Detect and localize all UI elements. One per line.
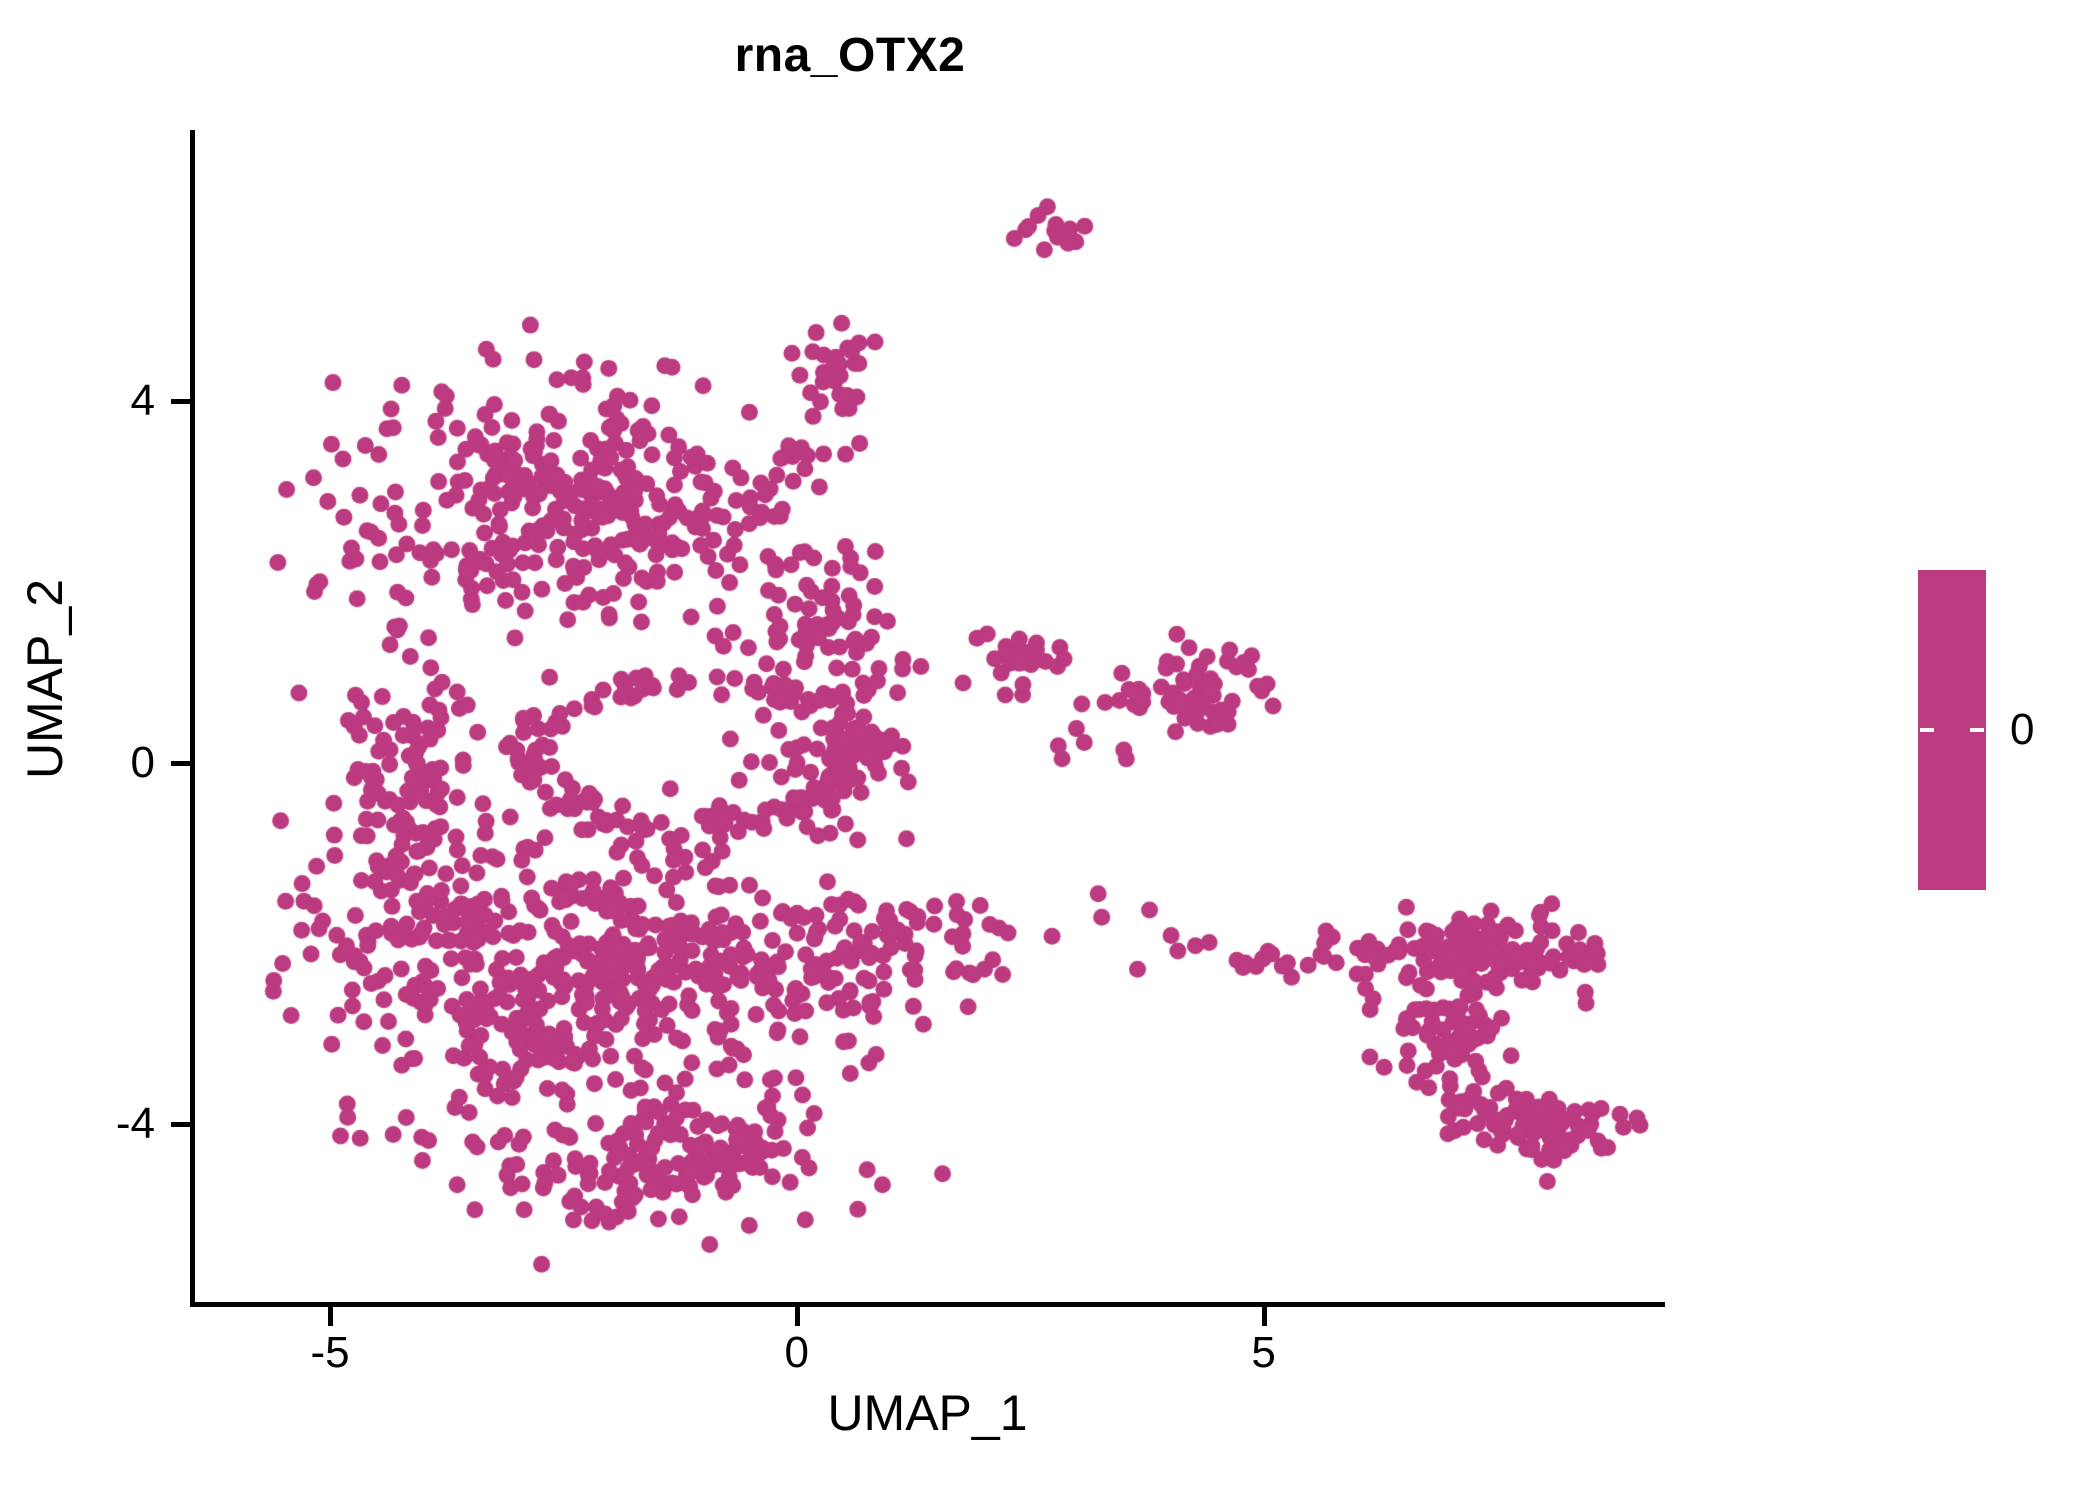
y-tick-label: 0 bbox=[131, 738, 155, 788]
colorbar-tick-left bbox=[1920, 728, 1934, 732]
x-tick-mark bbox=[328, 1307, 333, 1326]
colorbar-legend: 0 bbox=[1918, 570, 2088, 900]
x-tick-label: 0 bbox=[785, 1328, 809, 1378]
x-axis-line bbox=[190, 1302, 1665, 1307]
colorbar-tick-label: 0 bbox=[2010, 705, 2034, 755]
x-tick-mark bbox=[795, 1307, 800, 1326]
plot-panel bbox=[190, 130, 1665, 1305]
y-tick-label: 4 bbox=[131, 376, 155, 426]
y-tick-label: -4 bbox=[116, 1099, 155, 1149]
y-tick-mark bbox=[171, 399, 190, 404]
page-title: rna_OTX2 bbox=[0, 28, 1700, 83]
scatter-points-layer bbox=[190, 130, 1665, 1305]
x-tick-label: 5 bbox=[1251, 1328, 1275, 1378]
x-axis-title: UMAP_1 bbox=[190, 1384, 1665, 1442]
y-tick-mark bbox=[171, 761, 190, 766]
x-tick-label: -5 bbox=[310, 1328, 349, 1378]
y-tick-mark bbox=[171, 1122, 190, 1127]
x-tick-mark bbox=[1262, 1307, 1267, 1326]
umap-feature-plot: rna_OTX2 -404 -505 UMAP_1 UMAP_2 0 bbox=[0, 0, 2100, 1500]
y-axis-line bbox=[190, 130, 195, 1305]
y-axis-title: UMAP_2 bbox=[16, 329, 74, 1029]
colorbar-tick-right bbox=[1970, 728, 1984, 732]
